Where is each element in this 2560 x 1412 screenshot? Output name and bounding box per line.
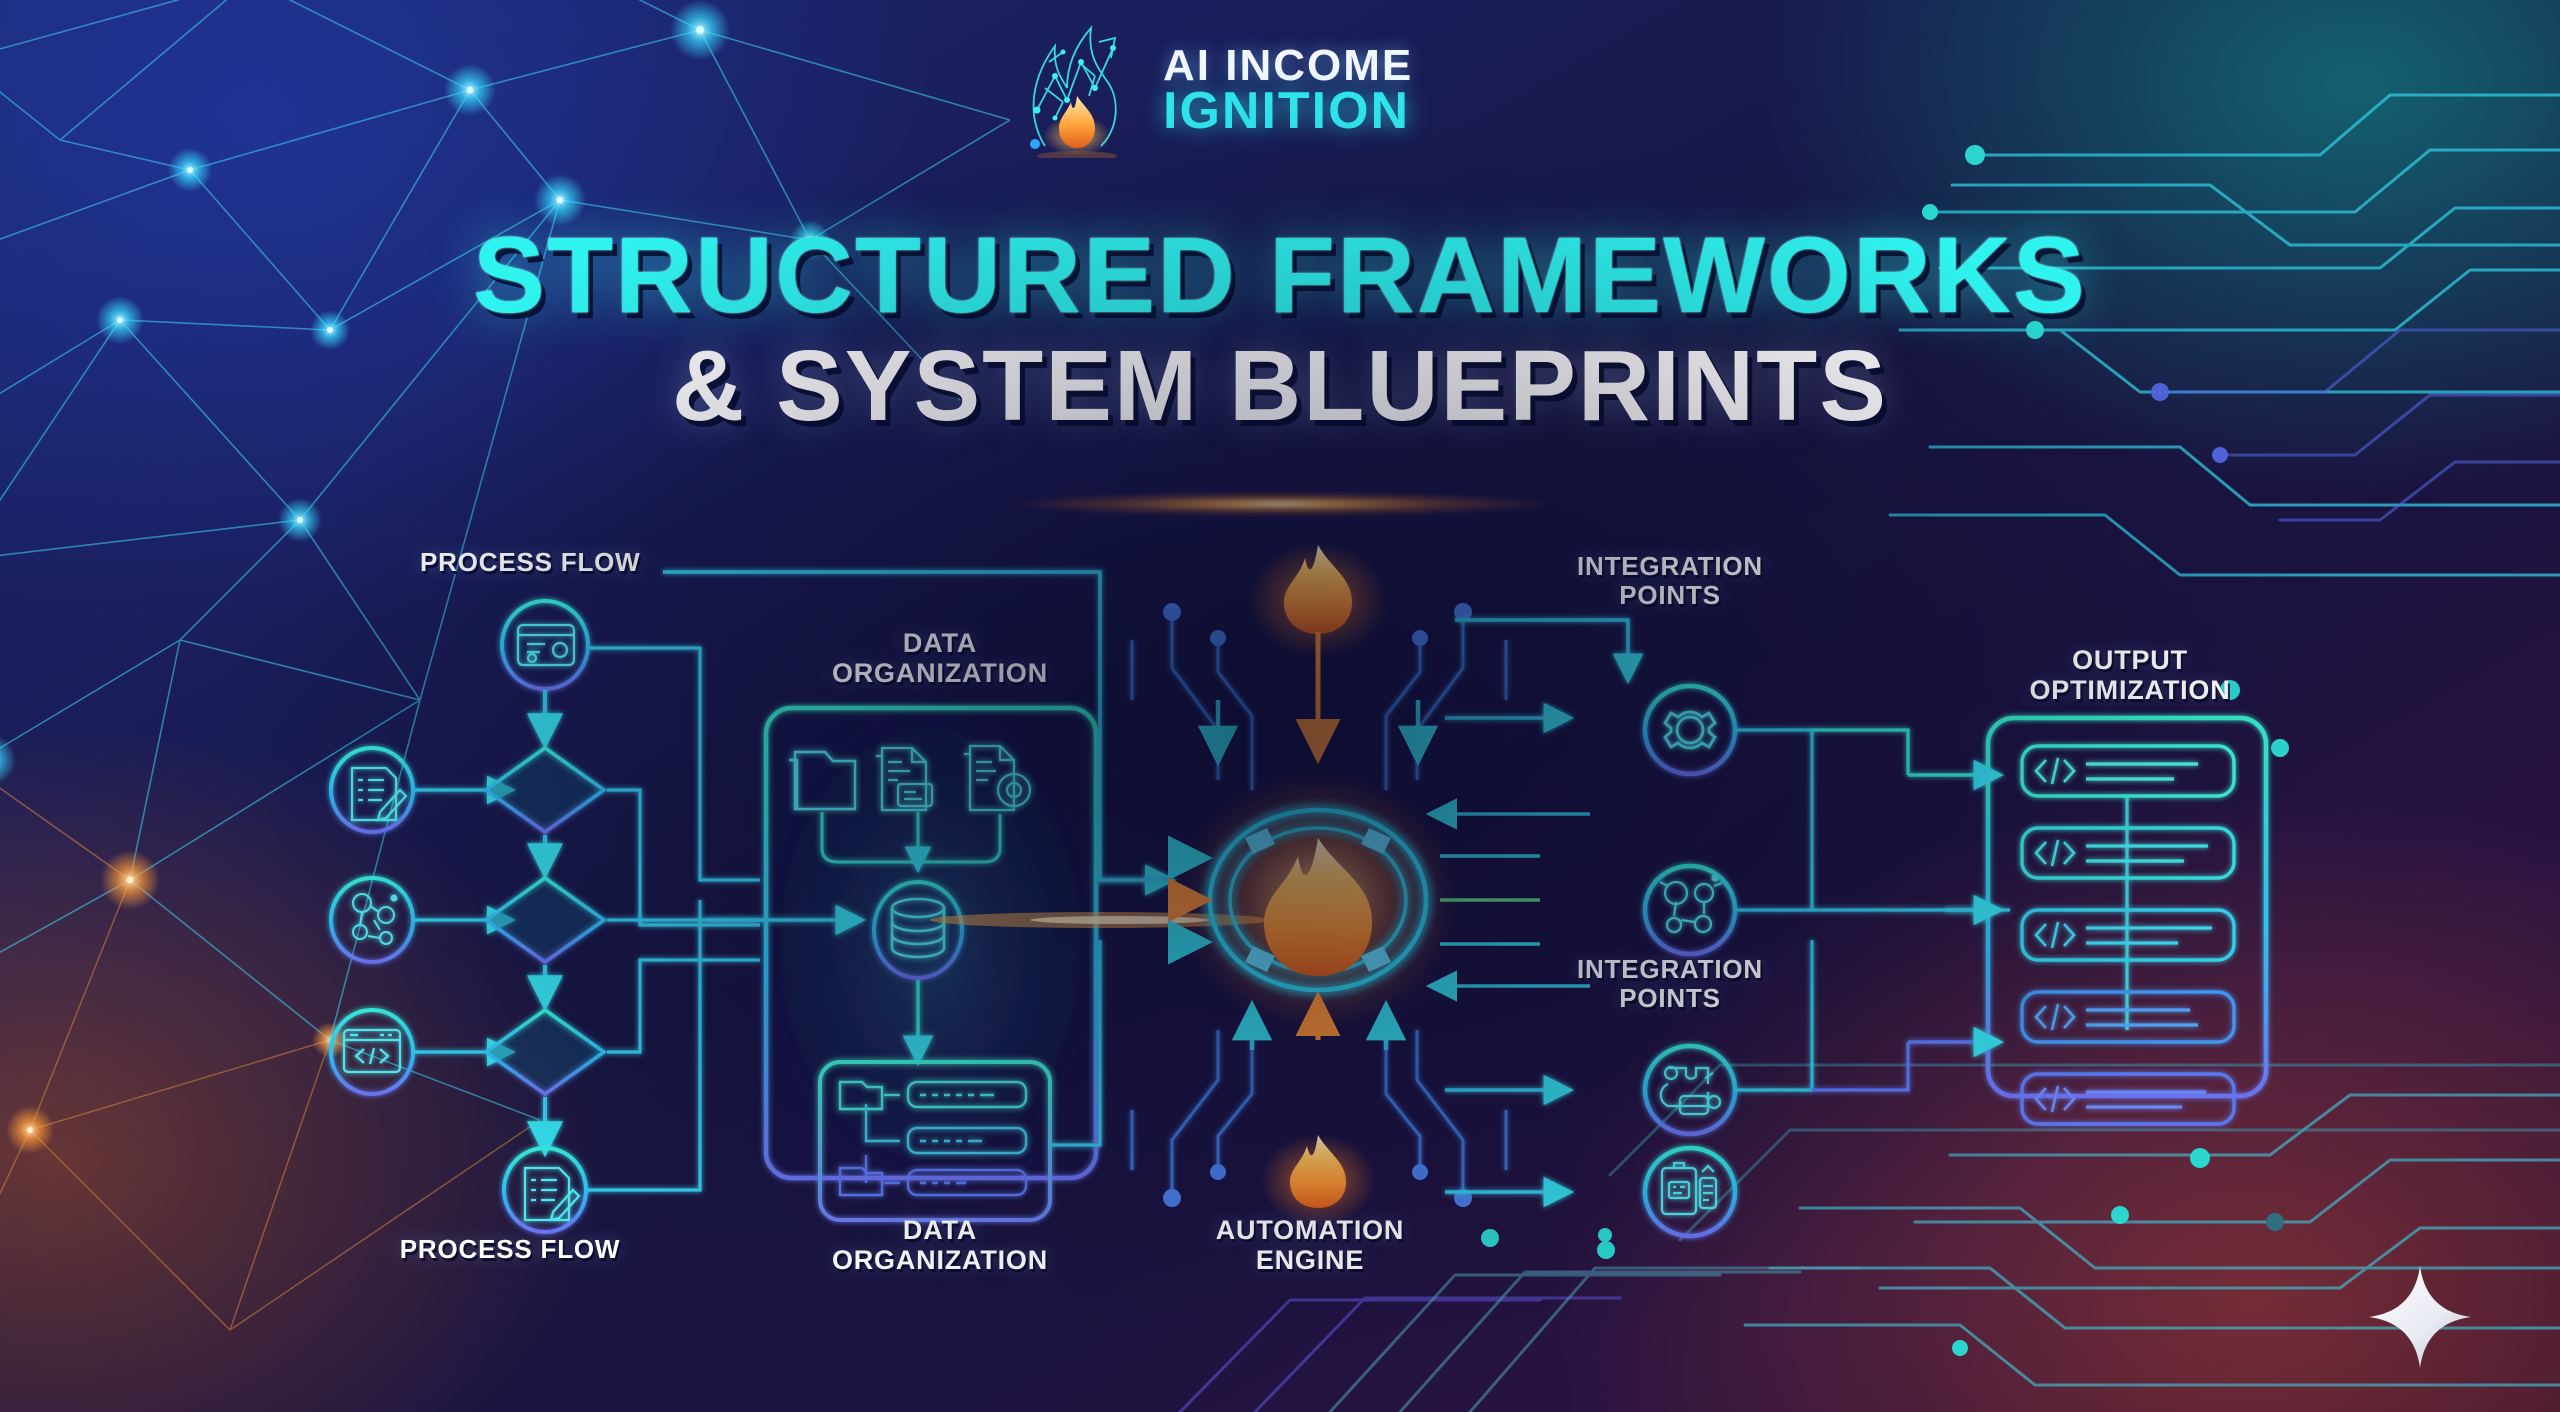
label-process-flow-bottom: PROCESS FLOW xyxy=(330,1235,690,1264)
output-optimization-group xyxy=(1812,718,2266,1124)
integration-puzzle-node xyxy=(1645,1046,1735,1134)
label-integration-points-top: INTEGRATION POINTS xyxy=(1480,552,1860,610)
form-edit-node xyxy=(331,748,413,832)
flame-bottom xyxy=(1260,1134,1376,1226)
system-blueprint-diagram xyxy=(0,0,2560,1412)
document-output-node xyxy=(504,1148,586,1232)
output-row-1 xyxy=(2022,746,2234,796)
automation-engine-group xyxy=(1132,542,1590,1226)
integration-points-group xyxy=(1445,620,2010,1236)
integration-gear-node xyxy=(1645,686,1735,774)
decision-3 xyxy=(486,1010,604,1094)
label-automation-engine: AUTOMATION ENGINE xyxy=(1130,1215,1490,1275)
data-node xyxy=(331,878,413,962)
integration-device-node xyxy=(1645,1148,1735,1236)
label-output-optimization: OUTPUT OPTIMIZATION xyxy=(1930,645,2330,705)
four-point-sparkle-icon xyxy=(2365,1262,2475,1372)
label-data-organization-top: DATA ORGANIZATION xyxy=(760,628,1120,688)
decision-2 xyxy=(486,878,604,962)
config-window-node xyxy=(502,601,588,689)
poster-background: AI INCOME IGNITION STRUCTURED FRAMEWORKS… xyxy=(0,0,2560,1412)
output-row-5 xyxy=(2022,1074,2234,1124)
label-integration-points-mid: INTEGRATION POINTS xyxy=(1480,955,1860,1013)
code-node xyxy=(331,1010,413,1094)
integration-api-node xyxy=(1645,866,1735,954)
decision-1 xyxy=(486,748,604,832)
label-process-flow-top: PROCESS FLOW xyxy=(420,548,641,577)
label-data-organization-bottom: DATA ORGANIZATION xyxy=(760,1215,1120,1275)
